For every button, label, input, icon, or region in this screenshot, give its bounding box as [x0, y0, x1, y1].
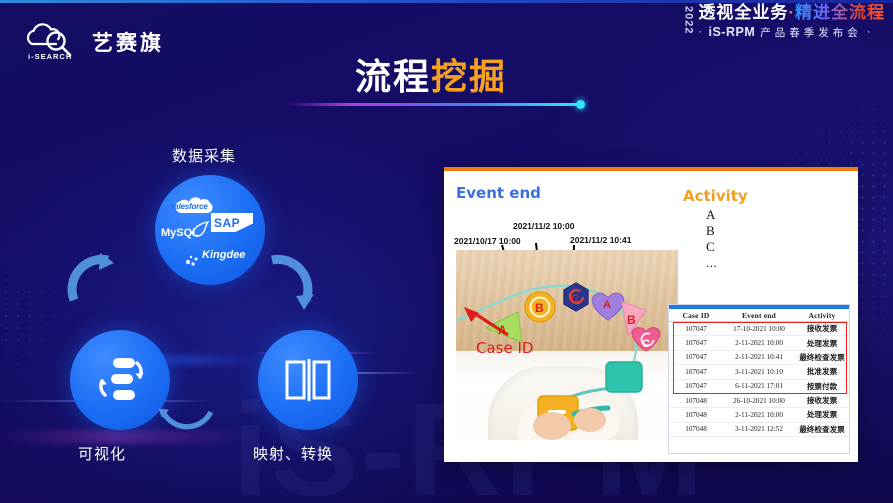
- event-log-table: Case ID Event end Activity 10704717-10-2…: [669, 309, 849, 437]
- kingdee-label: Kingdee: [202, 249, 245, 261]
- banner-headline-white: 透视全业务: [698, 3, 788, 22]
- table-row: 10704717-10-2021 10:00接收发票: [669, 322, 849, 336]
- cell-case-id: 107047: [669, 336, 723, 350]
- salesforce-label: salesforce: [170, 202, 208, 211]
- table-row: 1070482-11-2021 10:00处理发票: [669, 408, 849, 422]
- mapping-transform-icon: [282, 356, 334, 404]
- table-header-row: Case ID Event end Activity: [669, 309, 849, 322]
- event-log-panel: Event end Activity A B C ... 2021/10/17 …: [444, 167, 858, 462]
- activity-item: A: [706, 207, 717, 223]
- column-header-activity: Activity: [795, 309, 849, 322]
- table-row: 10704826-10-2021 10:00接收发票: [669, 393, 849, 407]
- cycle-label-visualize: 可视化: [78, 443, 126, 464]
- banner-headline-gradient: 精进全流程: [795, 3, 885, 22]
- cell-event-end: 6-11-2021 17:01: [723, 379, 795, 393]
- banner-year: 2022: [682, 6, 693, 34]
- banner-headline-dot: ·: [788, 3, 795, 22]
- cell-activity: 接收发票: [795, 393, 849, 407]
- svg-text:A: A: [603, 299, 611, 311]
- cell-case-id: 107047: [669, 350, 723, 364]
- svg-text:B: B: [627, 313, 636, 327]
- cell-activity: 最终检查发票: [795, 350, 849, 364]
- page-title-white: 流程: [355, 57, 431, 98]
- cycle-label-collect: 数据采集: [172, 145, 236, 166]
- table-row: 1070472-11-2021 10:41最终检查发票: [669, 350, 849, 364]
- cell-activity: 处理发票: [795, 408, 849, 422]
- process-cycle-diagram: 数据采集 可视化 映射、转换 salesforce SAP MySQL: [60, 140, 390, 470]
- sap-logo: SAP: [211, 213, 253, 232]
- cell-event-end: 3-11-2021 12:52: [723, 422, 795, 436]
- cell-event-end: 2-11-2021 10:41: [723, 350, 795, 364]
- banner-sub-product: iS-RPM: [709, 25, 756, 39]
- activity-list: A B C ...: [706, 207, 717, 271]
- sap-label: SAP: [214, 216, 240, 230]
- event-log-table-container[interactable]: Case ID Event end Activity 10704717-10-2…: [668, 304, 850, 454]
- cell-activity: 批准发票: [795, 365, 849, 379]
- table-row: 1070483-11-2021 12:52最终检查发票: [669, 422, 849, 436]
- logo-subtext: i-SEARCH: [28, 52, 72, 61]
- cell-case-id: 107047: [669, 322, 723, 336]
- table-row: 1070476-11-2021 17:01按票付款: [669, 379, 849, 393]
- table-row: 1070472-11-2021 10:00处理发票: [669, 336, 849, 350]
- banner-headline: 透视全业务·精进全流程: [698, 4, 885, 23]
- activity-item: ...: [706, 255, 717, 271]
- banner-sub-tail: ·: [867, 26, 872, 38]
- title-underline-dot: [576, 100, 585, 109]
- cell-event-end: 2-11-2021 10:00: [723, 336, 795, 350]
- title-underline: [285, 103, 580, 106]
- activity-heading: Activity: [683, 187, 748, 205]
- cell-event-end: 17-10-2021 10:00: [723, 322, 795, 336]
- cell-case-id: 107048: [669, 408, 723, 422]
- panel-orange-bar: [444, 167, 858, 171]
- svg-text:C: C: [642, 338, 650, 350]
- case-id-arrow-icon: [460, 305, 518, 339]
- page-title: 流程挖掘: [355, 48, 507, 100]
- activity-item: C: [706, 239, 717, 255]
- svg-text:B: B: [535, 301, 544, 315]
- banner-sub-lead: ·: [698, 26, 703, 38]
- cycle-arrow-right: [258, 250, 322, 314]
- mysql-label: MySQL: [161, 227, 199, 239]
- activity-item: B: [706, 223, 717, 239]
- case-id-annotation: Case ID: [476, 339, 533, 357]
- timestamp-annotation: 2021/11/2 10:00: [513, 221, 574, 231]
- cell-case-id: 107047: [669, 365, 723, 379]
- event-end-heading: Event end: [456, 184, 541, 202]
- cycle-node-data-collection[interactable]: salesforce SAP MySQL Kingdee: [155, 175, 265, 285]
- cell-event-end: 2-11-2021 10:00: [723, 408, 795, 422]
- table-row: 1070473-11-2021 10:10批准发票: [669, 365, 849, 379]
- slide-root: iS-RPM i-SEARCH 艺赛旗 2022 透视全业务·精进全流程 · i…: [0, 0, 893, 503]
- cell-activity: 按票付款: [795, 379, 849, 393]
- table-blue-bar: [669, 305, 849, 309]
- cloud-magnifier-icon: i-SEARCH: [20, 22, 82, 62]
- visualization-icon: [91, 354, 149, 406]
- cycle-node-mapping[interactable]: [258, 330, 358, 430]
- cell-event-end: 26-10-2021 10:00: [723, 393, 795, 407]
- column-header-event-end: Event end: [723, 309, 795, 322]
- cycle-label-mapping: 映射、转换: [253, 443, 333, 464]
- cell-case-id: 107048: [669, 422, 723, 436]
- event-banner: 2022 透视全业务·精进全流程 · iS-RPM 产品春季发布会 ·: [682, 4, 885, 40]
- cycle-arrow-bottom: [155, 390, 219, 454]
- cell-activity: 接收发票: [795, 322, 849, 336]
- cycle-arrow-left: [58, 250, 122, 314]
- banner-sub-cn: 产品春季发布会: [760, 25, 862, 40]
- logo-wordmark: 艺赛旗: [92, 27, 164, 57]
- brand-logo[interactable]: i-SEARCH 艺赛旗: [20, 22, 164, 62]
- banner-subline: · iS-RPM 产品春季发布会 ·: [698, 25, 885, 40]
- cell-activity: 处理发票: [795, 336, 849, 350]
- cell-case-id: 107047: [669, 379, 723, 393]
- table-body: 10704717-10-2021 10:00接收发票 1070472-11-20…: [669, 322, 849, 437]
- column-header-case-id: Case ID: [669, 309, 723, 322]
- cell-event-end: 3-11-2021 10:10: [723, 365, 795, 379]
- cell-activity: 最终检查发票: [795, 422, 849, 436]
- kingdee-dots-icon: [185, 251, 201, 267]
- page-title-orange: 挖掘: [431, 57, 507, 98]
- svg-text:C: C: [571, 293, 579, 305]
- cell-case-id: 107048: [669, 393, 723, 407]
